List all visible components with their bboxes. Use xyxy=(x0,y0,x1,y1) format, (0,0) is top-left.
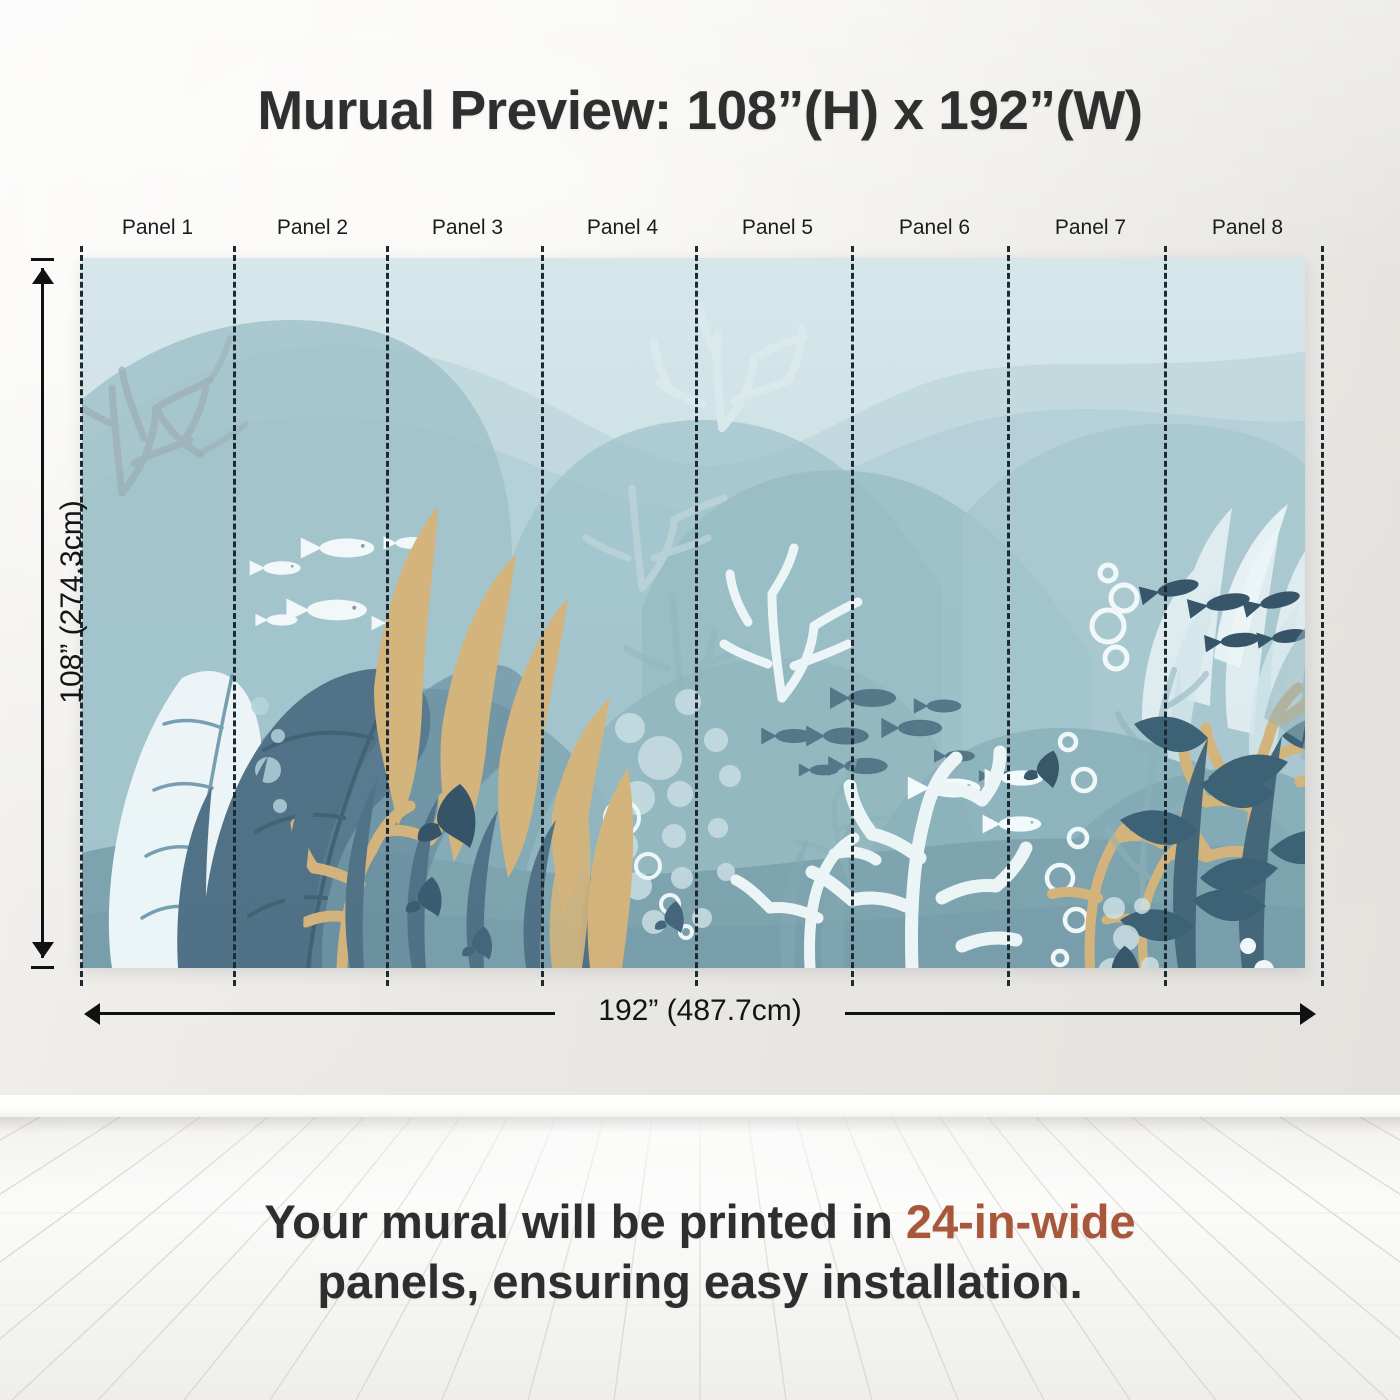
height-arrow-down xyxy=(32,942,54,958)
height-tick-bottom xyxy=(31,966,54,969)
panel-label-3: Panel 3 xyxy=(390,216,545,240)
panel-label-5: Panel 5 xyxy=(700,216,855,240)
height-tick-top xyxy=(31,258,54,261)
panel-label-2: Panel 2 xyxy=(235,216,390,240)
panel-divider-2 xyxy=(386,246,389,986)
panel-label-7: Panel 7 xyxy=(1013,216,1168,240)
page-title: Murual Preview: 108”(H) x 192”(W) xyxy=(0,78,1400,142)
caption-line-1: Your mural will be printed in 24-in-wide xyxy=(0,1192,1400,1252)
panel-divider-7 xyxy=(1164,246,1167,986)
caption-line-1-text: Your mural will be printed in xyxy=(264,1195,906,1248)
mural-artwork xyxy=(82,258,1305,968)
panel-divider-6 xyxy=(1007,246,1010,986)
panel-label-1: Panel 1 xyxy=(80,216,235,240)
wall-floor-shadow xyxy=(0,1117,1400,1133)
panel-divider-5 xyxy=(851,246,854,986)
panel-label-4: Panel 4 xyxy=(545,216,700,240)
panel-divider-4 xyxy=(695,246,698,986)
panel-divider-1 xyxy=(233,246,236,986)
panel-divider-3 xyxy=(541,246,544,986)
caption-line-2: panels, ensuring easy installation. xyxy=(0,1252,1400,1312)
height-dimension-label: 108” (274.3cm) xyxy=(55,392,89,812)
height-dimension-line xyxy=(41,268,44,958)
panel-divider-8 xyxy=(1321,246,1324,986)
width-dimension-label: 192” (487.7cm) xyxy=(0,994,1400,1028)
panel-label-6: Panel 6 xyxy=(857,216,1012,240)
baseboard xyxy=(0,1095,1400,1119)
footer-caption: Your mural will be printed in 24-in-wide… xyxy=(0,1192,1400,1312)
mural-preview-screenshot: Murual Preview: 108”(H) x 192”(W) xyxy=(0,0,1400,1400)
caption-highlight: 24-in-wide xyxy=(906,1195,1136,1248)
height-arrow-up xyxy=(32,268,54,284)
panel-label-8: Panel 8 xyxy=(1170,216,1325,240)
